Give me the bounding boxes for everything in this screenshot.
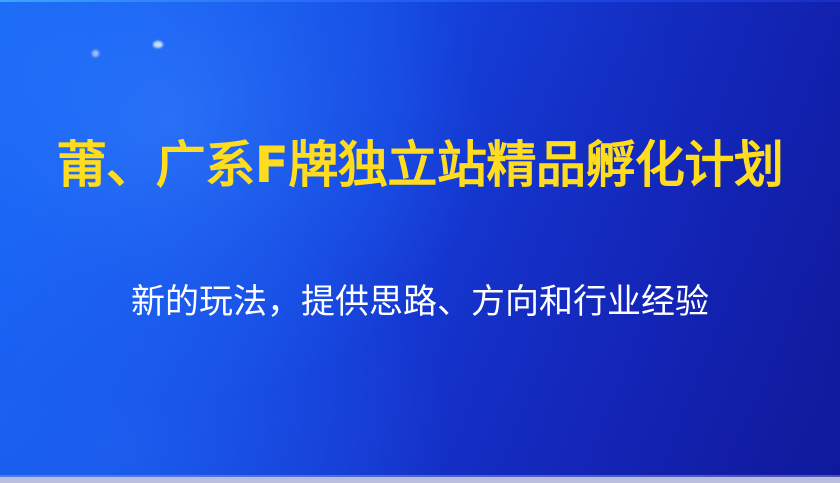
banner-content: 莆、广系F牌独立站精品孵化计划 新的玩法，提供思路、方向和行业经验 [0,0,840,483]
promo-banner: 莆、广系F牌独立站精品孵化计划 新的玩法，提供思路、方向和行业经验 [0,0,840,483]
banner-headline: 莆、广系F牌独立站精品孵化计划 [0,131,840,199]
banner-subheadline: 新的玩法，提供思路、方向和行业经验 [0,278,840,326]
